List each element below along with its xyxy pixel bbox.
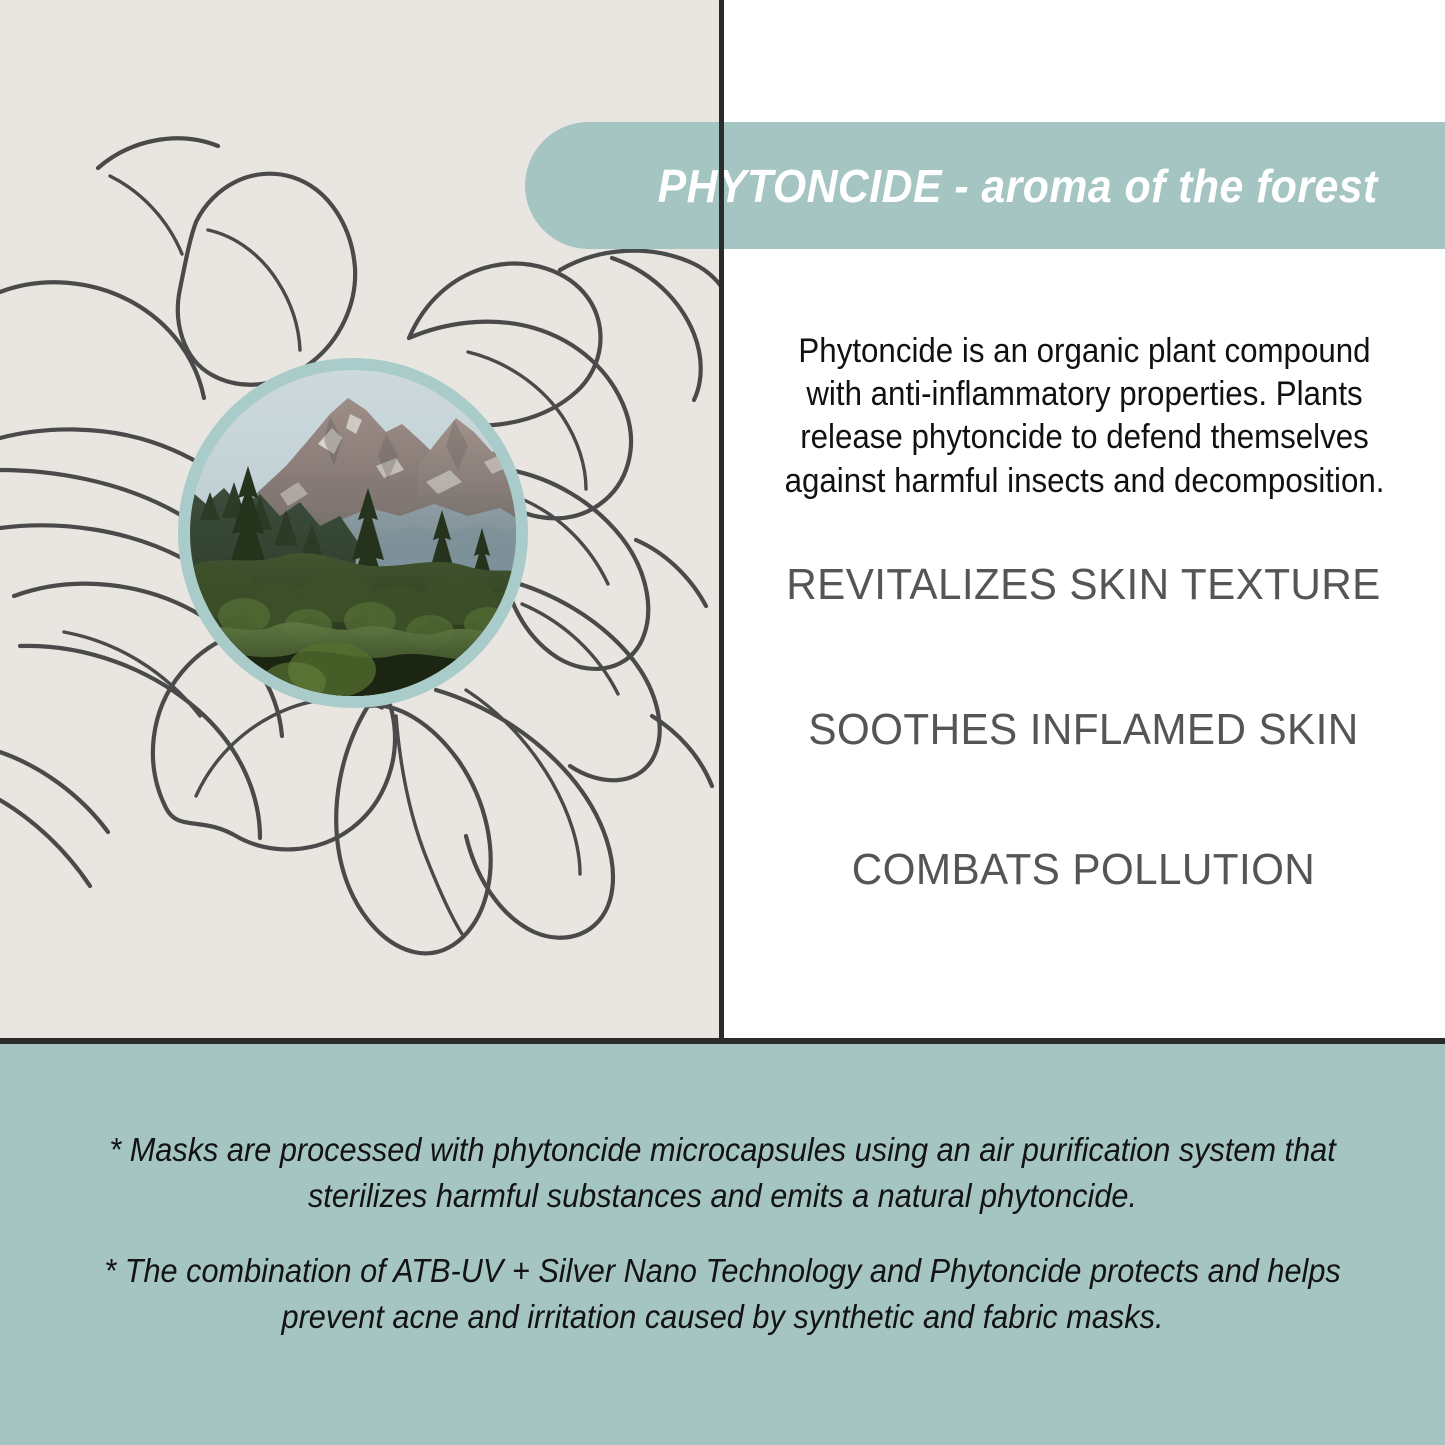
forest-photo: [190, 370, 516, 696]
title-banner: PHYTONCIDE - aroma of the forest: [525, 122, 1445, 249]
benefit-heading-2: SOOTHES INFLAMED SKIN: [736, 705, 1430, 755]
infographic-canvas: PHYTONCIDE - aroma of the forest Phytonc…: [0, 0, 1445, 1445]
benefit-heading-3: COMBATS POLLUTION: [736, 845, 1430, 895]
benefit-heading-1: REVITALIZES SKIN TEXTURE: [736, 560, 1430, 610]
footer-note-2: * The combination of ATB-UV + Silver Nan…: [102, 1248, 1344, 1339]
banner-title: PHYTONCIDE - aroma of the forest: [592, 159, 1377, 213]
forest-photo-circle: [178, 358, 528, 708]
footer-note-1: * Masks are processed with phytoncide mi…: [102, 1127, 1344, 1218]
vertical-divider: [719, 0, 724, 1042]
footer-band: [0, 1044, 1445, 1445]
intro-paragraph: Phytoncide is an organic plant compound …: [779, 330, 1391, 503]
